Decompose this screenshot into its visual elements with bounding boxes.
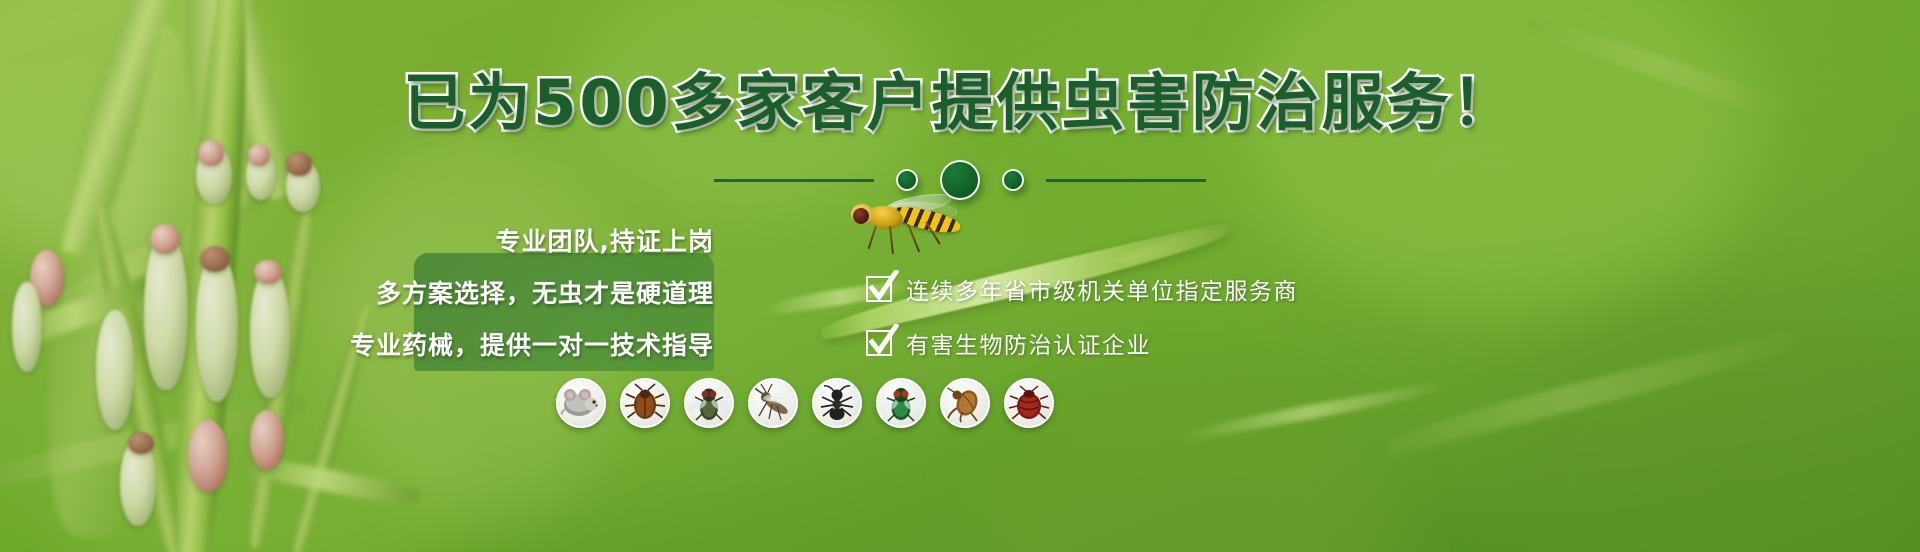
feature-item-2: 有害生物防治认证企业	[866, 326, 1298, 360]
hoverfly-icon	[845, 198, 965, 250]
plant-bud	[254, 260, 282, 284]
bokeh-blob	[1240, 0, 1760, 310]
ant-icon[interactable]	[812, 378, 862, 428]
plant-bud	[286, 152, 312, 176]
fly-leg	[868, 226, 877, 249]
checkbox-checked-icon	[866, 330, 892, 356]
feature-item-1: 连续多年省市级机关单位指定服务商	[866, 272, 1298, 306]
plant-bud-cluster	[196, 252, 238, 402]
bedbug-icon[interactable]	[1004, 378, 1054, 428]
plant-bud-cluster	[144, 230, 188, 390]
selling-points-text: 专业团队,持证上岗 多方案选择，无虫才是硬道理 专业药械，提供一对一技术指导	[336, 212, 736, 372]
feature-list: 连续多年省市级机关单位指定服务商 有害生物防治认证企业	[866, 272, 1298, 360]
promotional-banner: 已为500多家客户提供虫害防治服务！ 专业团队,持证上岗 多方案选择，无虫才是硬…	[0, 0, 1920, 552]
plant-bud	[198, 140, 224, 166]
feature-label-2: 有害生物防治认证企业	[906, 326, 1151, 360]
cockroach-icon[interactable]	[620, 378, 670, 428]
bokeh-blob	[1500, 300, 1920, 552]
feature-label-1: 连续多年省市级机关单位指定服务商	[906, 272, 1298, 306]
flea-icon[interactable]	[940, 378, 990, 428]
fly-head	[851, 204, 873, 224]
selling-point-line-1: 专业团队,持证上岗	[496, 222, 715, 258]
plant-bud-cluster	[250, 268, 290, 398]
checkbox-checked-icon	[866, 276, 892, 302]
selling-point-line-2: 多方案选择，无虫才是硬道理	[376, 274, 714, 310]
selling-point-line-3: 专业药械，提供一对一技术指导	[350, 326, 714, 362]
plant-bud-cluster	[12, 282, 42, 372]
plant-bud	[200, 246, 230, 272]
plant-bud	[188, 420, 228, 492]
plant-bud	[250, 410, 284, 470]
plant-bud	[248, 144, 270, 166]
blowfly-icon[interactable]	[876, 378, 926, 428]
fly-leg	[889, 226, 894, 254]
fly-eye	[853, 208, 869, 224]
page-title: 已为500多家客户提供虫害防治服务！	[0, 72, 1920, 134]
fly-leg	[907, 224, 920, 253]
fly-icon[interactable]	[684, 378, 734, 428]
pest-icon-row	[556, 378, 1054, 428]
mouse-icon[interactable]	[556, 378, 606, 428]
mosquito-icon[interactable]	[748, 378, 798, 428]
plant-bud	[128, 432, 154, 454]
headline-text: 已为500多家客户提供虫害防治服务！	[403, 66, 1516, 139]
plant-bud-cluster	[96, 310, 134, 430]
plant-bud	[150, 224, 180, 254]
